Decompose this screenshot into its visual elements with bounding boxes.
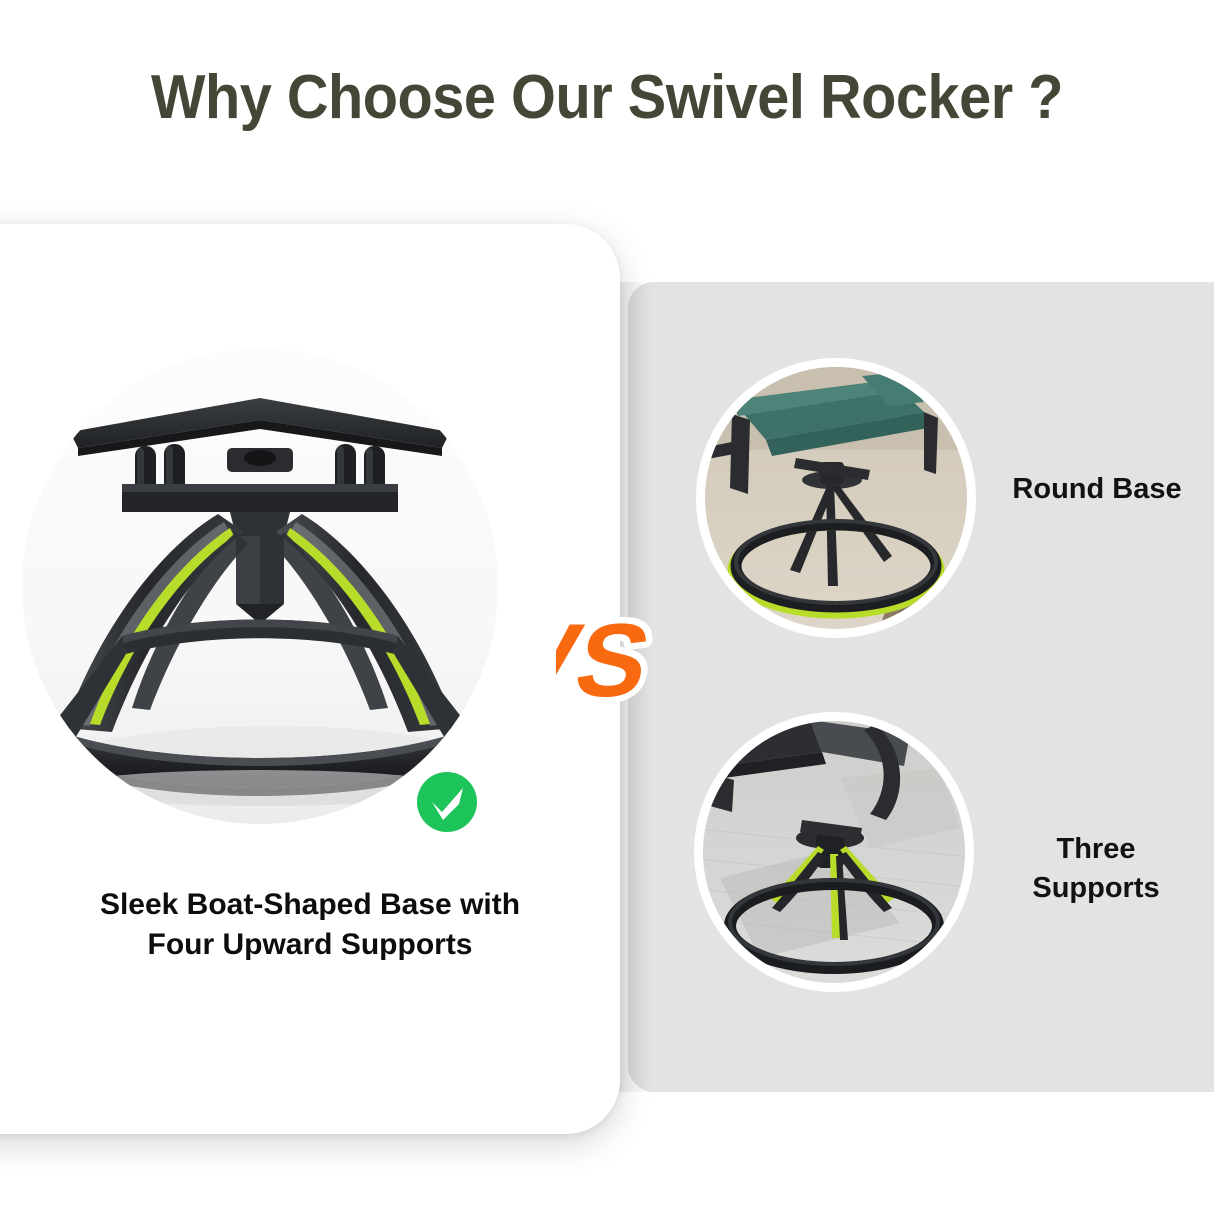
three-supports-label-line-2: Supports [996,869,1196,908]
check-mark-icon [411,766,483,838]
caption-line-2: Four Upward Supports [30,925,590,965]
versus-badge: VS VS [556,596,716,726]
left-caption: Sleek Boat-Shaped Base with Four Upward … [30,885,590,964]
label-round-base: Round Base [992,470,1202,509]
three-supports-label-line-1: Three [996,830,1196,869]
round-base-photo [692,354,980,642]
svg-text:VS: VS [556,603,660,719]
label-three-supports: Three Supports [996,830,1196,908]
infographic-stage: Why Choose Our Swivel Rocker ? [0,0,1214,1214]
three-supports-photo [690,708,978,996]
page-title: Why Choose Our Swivel Rocker ? [42,62,1171,133]
round-base-label-line-1: Round Base [992,470,1202,509]
caption-line-1: Sleek Boat-Shaped Base with [30,885,590,925]
main-product-photo [0,336,548,836]
